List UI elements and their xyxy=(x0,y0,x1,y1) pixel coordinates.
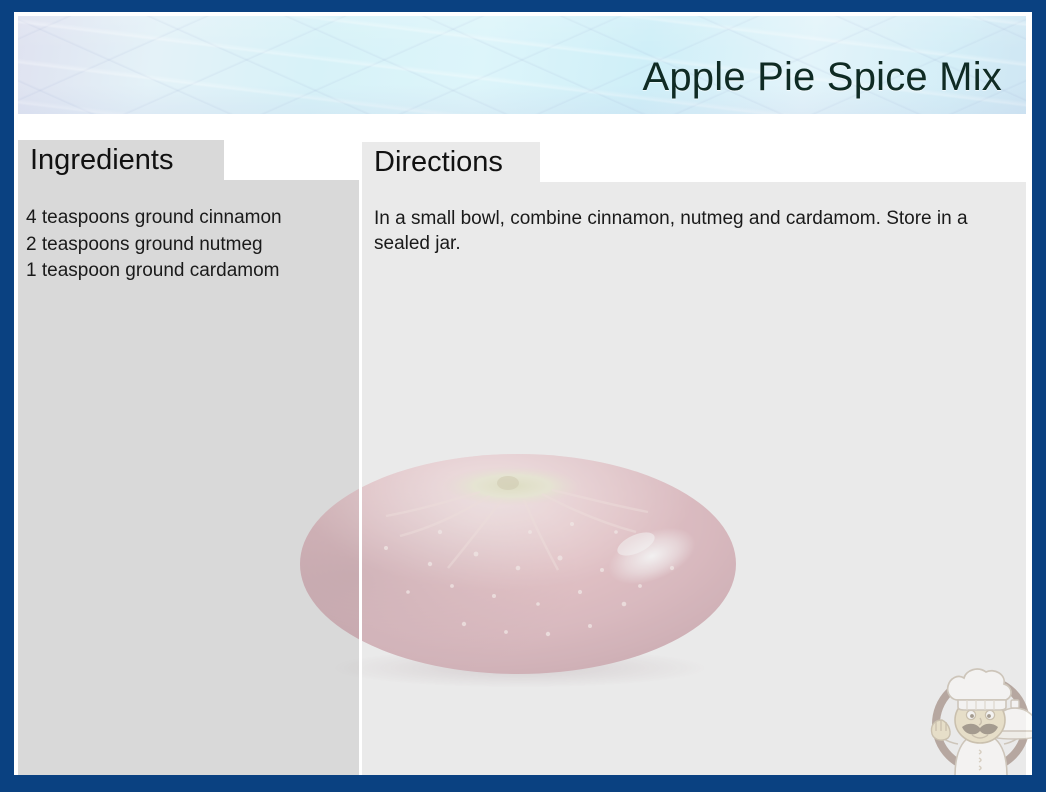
list-item: 4 teaspoons ground cinnamon xyxy=(26,205,359,232)
panel-divider xyxy=(359,140,362,775)
list-item: 1 teaspoon ground cardamom xyxy=(26,258,359,285)
section-tab-ingredients[interactable]: Ingredients xyxy=(18,140,224,182)
ingredients-list: 4 teaspoons ground cinnamon 2 teaspoons … xyxy=(18,180,359,285)
page-title: Apple Pie Spice Mix xyxy=(642,54,1002,100)
header-banner: Apple Pie Spice Mix xyxy=(18,16,1026,114)
directions-panel: In a small bowl, combine cinnamon, nutme… xyxy=(362,182,1026,775)
list-item: 2 teaspoons ground nutmeg xyxy=(26,232,359,259)
recipe-card: Apple Pie Spice Mix Ingredients 4 teaspo… xyxy=(0,0,1046,792)
section-tab-directions[interactable]: Directions xyxy=(362,142,540,184)
directions-text: In a small bowl, combine cinnamon, nutme… xyxy=(362,182,1026,256)
ingredients-panel: 4 teaspoons ground cinnamon 2 teaspoons … xyxy=(18,180,359,775)
recipe-card-inner: Apple Pie Spice Mix Ingredients 4 teaspo… xyxy=(14,12,1032,775)
